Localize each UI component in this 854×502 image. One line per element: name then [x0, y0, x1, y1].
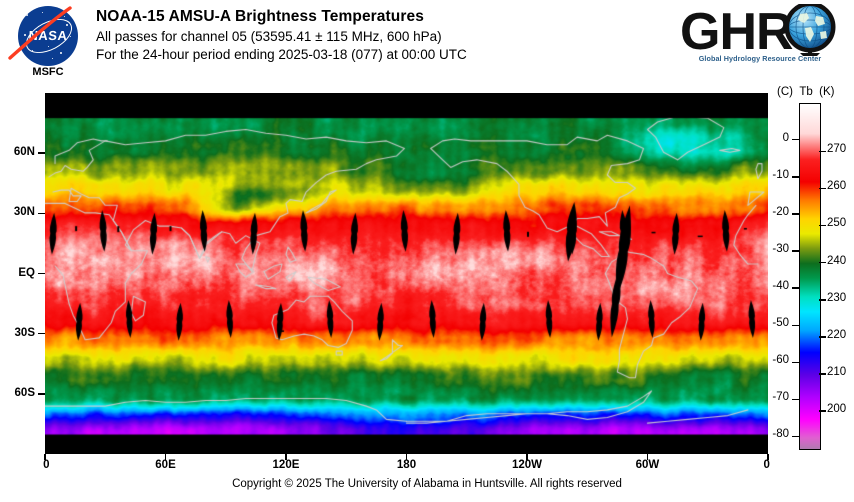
- ghrc-logo: GHR Global Hydrology Resource Center: [680, 4, 840, 74]
- colorbar-tick-celsius: -20: [755, 206, 789, 218]
- longitude-tick-mark: [44, 454, 45, 460]
- longitude-tick-label: 180: [397, 459, 416, 471]
- colorbar-tick-mark: [819, 225, 826, 226]
- longitude-tick-label: 60W: [636, 459, 660, 471]
- copyright-notice: Copyright © 2025 The University of Alaba…: [0, 478, 854, 490]
- colorbar-tick-mark: [792, 287, 799, 288]
- latitude-tick-label: EQ: [18, 267, 35, 279]
- colorbar-tick-celsius: -30: [755, 243, 789, 255]
- colorbar-tick-celsius: -70: [755, 391, 789, 403]
- latitude-tick-mark: [38, 393, 45, 394]
- colorbar-tick-kelvin: 260: [827, 180, 846, 192]
- period-subtitle: For the 24-hour period ending 2025-03-18…: [96, 47, 467, 62]
- svg-text:GHR: GHR: [680, 4, 793, 56]
- ghrc-tagline: Global Hydrology Resource Center: [680, 54, 840, 63]
- colorbar-tick-mark: [792, 325, 799, 326]
- latitude-tick-label: 30S: [15, 327, 35, 339]
- colorbar-tick-kelvin: 220: [827, 329, 846, 341]
- colorbar-tick-celsius: -80: [755, 428, 789, 440]
- longitude-tick-label: 120E: [273, 459, 300, 471]
- longitude-tick-mark: [526, 454, 527, 460]
- latitude-tick-mark: [38, 152, 45, 153]
- colorbar-tick-kelvin: 230: [827, 292, 846, 304]
- colorbar-tick-mark: [792, 176, 799, 177]
- colorbar-tick-celsius: -10: [755, 169, 789, 181]
- brightness-temperature-map: [45, 103, 768, 444]
- colorbar-tick-kelvin: 210: [827, 366, 846, 378]
- longitude-tick-mark: [767, 454, 768, 460]
- longitude-tick-mark: [285, 454, 286, 460]
- latitude-tick-label: 30N: [14, 206, 35, 218]
- latitude-tick-label: 60N: [14, 146, 35, 158]
- colorbar: [799, 103, 821, 450]
- colorbar-tick-mark: [819, 262, 826, 263]
- longitude-tick-label: 60E: [155, 459, 175, 471]
- colorbar-tick-kelvin: 250: [827, 217, 846, 229]
- colorbar-tick-mark: [792, 436, 799, 437]
- colorbar-tick-kelvin: 200: [827, 403, 846, 415]
- map-plot-area: [45, 93, 768, 454]
- longitude-tick-label: 0: [764, 459, 770, 471]
- colorbar-tick-mark: [819, 188, 826, 189]
- colorbar-tick-mark: [792, 213, 799, 214]
- latitude-tick-mark: [38, 213, 45, 214]
- colorbar-tick-mark: [819, 336, 826, 337]
- colorbar-quantity: Tb: [799, 86, 812, 98]
- nasa-center-label: MSFC: [12, 66, 84, 78]
- colorbar-tick-mark: [819, 299, 826, 300]
- channel-subtitle: All passes for channel 05 (53595.41 ± 11…: [96, 29, 467, 44]
- colorbar-unit-kelvin: (K): [819, 86, 834, 98]
- title-block: NOAA-15 AMSU-A Brightness Temperatures A…: [96, 8, 467, 62]
- page-title: NOAA-15 AMSU-A Brightness Temperatures: [96, 8, 467, 26]
- colorbar-tick-kelvin: 240: [827, 255, 846, 267]
- colorbar-tick-celsius: -50: [755, 317, 789, 329]
- colorbar-tick-mark: [792, 139, 799, 140]
- colorbar-tick-mark: [819, 373, 826, 374]
- colorbar-tick-mark: [819, 410, 826, 411]
- longitude-tick-label: 120W: [512, 459, 542, 471]
- map-raster: [45, 103, 768, 444]
- longitude-tick-mark: [406, 454, 407, 460]
- nasa-swoosh-icon: [6, 2, 74, 70]
- ghrc-wordmark-icon: GHR: [680, 4, 840, 56]
- latitude-tick-mark: [38, 273, 45, 274]
- colorbar-tick-mark: [792, 250, 799, 251]
- colorbar-gradient: [800, 104, 820, 449]
- colorbar-tick-celsius: 0: [755, 132, 789, 144]
- colorbar-tick-celsius: -60: [755, 354, 789, 366]
- colorbar-tick-celsius: -40: [755, 280, 789, 292]
- longitude-tick-label: 0: [43, 459, 49, 471]
- latitude-tick-label: 60S: [15, 387, 35, 399]
- latitude-tick-mark: [38, 333, 45, 334]
- colorbar-tick-mark: [792, 399, 799, 400]
- nasa-logo: NASA MSFC: [8, 6, 88, 82]
- colorbar-tick-mark: [792, 362, 799, 363]
- colorbar-unit-celsius: (C): [777, 86, 793, 98]
- longitude-tick-mark: [165, 454, 166, 460]
- colorbar-header: (C) Tb (K): [777, 86, 835, 98]
- longitude-tick-mark: [647, 454, 648, 460]
- colorbar-tick-mark: [819, 151, 826, 152]
- colorbar-tick-kelvin: 270: [827, 143, 846, 155]
